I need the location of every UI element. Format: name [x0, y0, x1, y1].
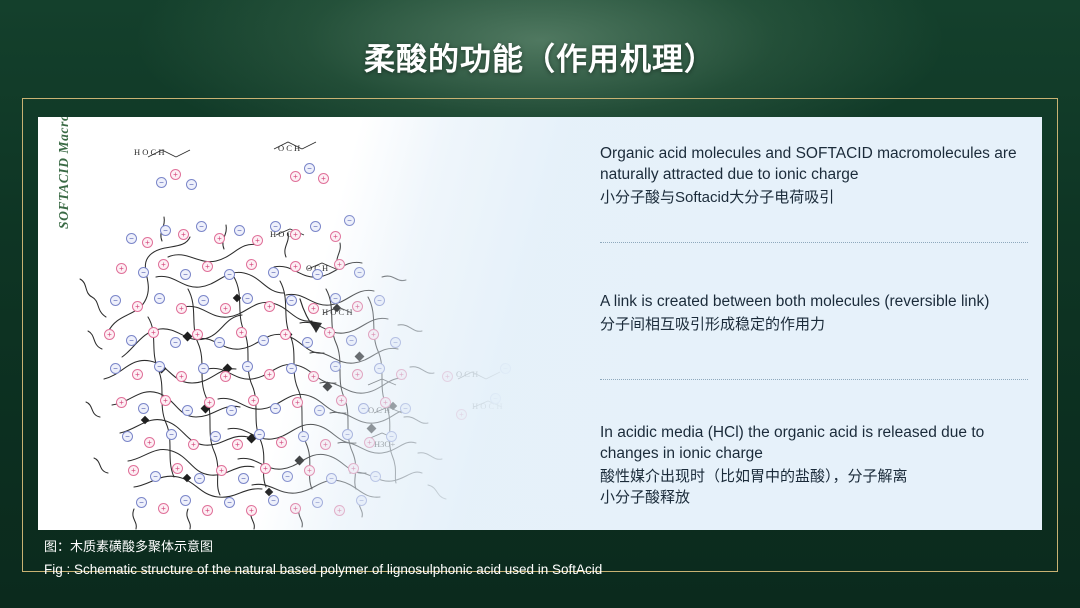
ion-minus-icon: −	[198, 363, 209, 374]
ion-plus-icon: +	[264, 369, 275, 380]
ion-minus-icon: −	[182, 405, 193, 416]
ion-plus-icon: +	[330, 231, 341, 242]
ion-minus-icon: −	[386, 431, 397, 442]
ion-minus-icon: −	[166, 429, 177, 440]
ion-minus-icon: −	[270, 221, 281, 232]
ion-minus-icon: −	[312, 497, 323, 508]
ion-minus-icon: −	[138, 267, 149, 278]
ion-minus-icon: −	[180, 495, 191, 506]
ion-plus-icon: +	[264, 301, 275, 312]
ion-minus-icon: −	[242, 361, 253, 372]
ion-minus-icon: −	[156, 177, 167, 188]
ion-minus-icon: −	[150, 471, 161, 482]
ion-plus-icon: +	[176, 303, 187, 314]
ion-minus-icon: −	[344, 215, 355, 226]
ion-minus-icon: −	[186, 179, 197, 190]
ion-plus-icon: +	[442, 371, 453, 382]
ion-minus-icon: −	[110, 295, 121, 306]
ion-minus-icon: −	[154, 361, 165, 372]
ion-minus-icon: −	[490, 393, 501, 404]
ion-plus-icon: +	[202, 505, 213, 516]
ion-minus-icon: −	[346, 335, 357, 346]
ion-minus-icon: −	[326, 473, 337, 484]
molecule-label: H O C H	[322, 307, 352, 317]
ion-plus-icon: +	[320, 439, 331, 450]
page-title: 柔酸的功能（作用机理）	[0, 34, 1080, 79]
ion-minus-icon: −	[286, 363, 297, 374]
ion-plus-icon: +	[364, 437, 375, 448]
block-english-text: In acidic media (HCl) the organic acid i…	[600, 423, 1030, 465]
ion-minus-icon: −	[268, 267, 279, 278]
ion-minus-icon: −	[136, 497, 147, 508]
ion-minus-icon: −	[234, 225, 245, 236]
ion-plus-icon: +	[204, 397, 215, 408]
ion-minus-icon: −	[154, 293, 165, 304]
ion-plus-icon: +	[368, 329, 379, 340]
ion-plus-icon: +	[348, 463, 359, 474]
ion-plus-icon: +	[178, 229, 189, 240]
ion-plus-icon: +	[260, 463, 271, 474]
ion-plus-icon: +	[246, 259, 257, 270]
ion-minus-icon: −	[126, 233, 137, 244]
ion-minus-icon: −	[226, 405, 237, 416]
ion-minus-icon: −	[160, 225, 171, 236]
ion-minus-icon: −	[298, 431, 309, 442]
text-block-release: In acidic media (HCl) the organic acid i…	[600, 423, 1030, 508]
macromolecule-axis-label: SOFTACID Macromolecule	[56, 117, 72, 229]
ion-minus-icon: −	[400, 403, 411, 414]
ion-plus-icon: +	[128, 465, 139, 476]
ion-plus-icon: +	[144, 437, 155, 448]
ion-plus-icon: +	[132, 301, 143, 312]
ion-plus-icon: +	[324, 327, 335, 338]
ion-plus-icon: +	[148, 327, 159, 338]
molecule-label: O C H	[456, 369, 478, 379]
ion-minus-icon: −	[374, 295, 385, 306]
ion-plus-icon: +	[318, 173, 329, 184]
ion-minus-icon: −	[500, 363, 511, 374]
ion-minus-icon: −	[224, 269, 235, 280]
ion-plus-icon: +	[158, 259, 169, 270]
ion-plus-icon: +	[202, 261, 213, 272]
ion-plus-icon: +	[352, 369, 363, 380]
ion-plus-icon: +	[236, 327, 247, 338]
block-chinese-text: 酸性媒介出现时（比如胃中的盐酸），分子解离 小分子酸释放	[600, 466, 1030, 508]
ion-minus-icon: −	[270, 403, 281, 414]
ion-minus-icon: −	[302, 337, 313, 348]
ion-plus-icon: +	[158, 503, 169, 514]
ion-minus-icon: −	[198, 295, 209, 306]
ion-minus-icon: −	[358, 403, 369, 414]
content-panel: SOFTACID Macromolecule H O C H O C H H O…	[38, 117, 1042, 530]
ion-plus-icon: +	[308, 303, 319, 314]
ion-minus-icon: −	[194, 473, 205, 484]
ion-minus-icon: −	[210, 431, 221, 442]
block-chinese-text: 小分子酸与Softacid大分子电荷吸引	[600, 187, 1030, 208]
ion-plus-icon: +	[290, 503, 301, 514]
ion-plus-icon: +	[220, 371, 231, 382]
ion-minus-icon: −	[258, 335, 269, 346]
ion-minus-icon: −	[342, 429, 353, 440]
slide-root: 柔酸的功能（作用机理）	[0, 0, 1080, 608]
ion-plus-icon: +	[290, 261, 301, 272]
ion-minus-icon: −	[170, 337, 181, 348]
block-english-text: Organic acid molecules and SOFTACID macr…	[600, 144, 1030, 186]
ion-plus-icon: +	[172, 463, 183, 474]
polymer-diagram: SOFTACID Macromolecule H O C H O C H H O…	[38, 117, 558, 530]
ion-minus-icon: −	[282, 471, 293, 482]
ion-minus-icon: −	[356, 495, 367, 506]
ion-plus-icon: +	[246, 505, 257, 516]
ion-minus-icon: −	[122, 431, 133, 442]
ion-plus-icon: +	[352, 301, 363, 312]
ion-plus-icon: +	[170, 169, 181, 180]
ion-minus-icon: −	[330, 293, 341, 304]
ion-plus-icon: +	[192, 329, 203, 340]
block-chinese-text: 分子间相互吸引形成稳定的作用力	[600, 314, 1030, 335]
ion-plus-icon: +	[188, 439, 199, 450]
ion-plus-icon: +	[334, 505, 345, 516]
ion-plus-icon: +	[132, 369, 143, 380]
ion-minus-icon: −	[268, 495, 279, 506]
ion-plus-icon: +	[280, 329, 291, 340]
block-divider	[600, 242, 1028, 243]
ion-plus-icon: +	[160, 395, 171, 406]
ion-plus-icon: +	[308, 371, 319, 382]
caption-chinese: 图：木质素磺酸多聚体示意图	[44, 536, 213, 555]
molecule-label: H O C H	[134, 147, 164, 157]
molecule-label: O C H	[278, 143, 300, 153]
ion-minus-icon: −	[180, 269, 191, 280]
ion-plus-icon: +	[456, 409, 467, 420]
ion-plus-icon: +	[290, 229, 301, 240]
ion-plus-icon: +	[292, 397, 303, 408]
ion-plus-icon: +	[104, 329, 115, 340]
ion-minus-icon: −	[312, 269, 323, 280]
ion-minus-icon: −	[126, 335, 137, 346]
ion-minus-icon: −	[238, 473, 249, 484]
ion-minus-icon: −	[374, 363, 385, 374]
ion-minus-icon: −	[304, 163, 315, 174]
ion-plus-icon: +	[290, 171, 301, 182]
ion-plus-icon: +	[214, 233, 225, 244]
ion-plus-icon: +	[304, 465, 315, 476]
ion-plus-icon: +	[252, 235, 263, 246]
text-block-link: A link is created between both molecules…	[600, 292, 1030, 335]
ion-plus-icon: +	[336, 395, 347, 406]
ion-plus-icon: +	[142, 237, 153, 248]
caption-english: Fig : Schematic structure of the natural…	[44, 562, 602, 577]
ion-plus-icon: +	[232, 439, 243, 450]
ion-minus-icon: −	[224, 497, 235, 508]
ion-minus-icon: −	[330, 361, 341, 372]
ion-minus-icon: −	[196, 221, 207, 232]
ion-minus-icon: −	[110, 363, 121, 374]
ion-plus-icon: +	[380, 397, 391, 408]
ion-minus-icon: −	[138, 403, 149, 414]
ion-plus-icon: +	[176, 371, 187, 382]
ion-minus-icon: −	[390, 337, 401, 348]
ion-plus-icon: +	[116, 263, 127, 274]
block-divider	[600, 379, 1028, 380]
ion-plus-icon: +	[216, 465, 227, 476]
ion-minus-icon: −	[314, 405, 325, 416]
ion-plus-icon: +	[220, 303, 231, 314]
ion-plus-icon: +	[276, 437, 287, 448]
ion-minus-icon: −	[286, 295, 297, 306]
ion-minus-icon: −	[310, 221, 321, 232]
ion-minus-icon: −	[370, 471, 381, 482]
ion-minus-icon: −	[254, 429, 265, 440]
ion-plus-icon: +	[116, 397, 127, 408]
ion-plus-icon: +	[334, 259, 345, 270]
ion-minus-icon: −	[242, 293, 253, 304]
ion-plus-icon: +	[396, 369, 407, 380]
block-english-text: A link is created between both molecules…	[600, 292, 1030, 313]
ion-minus-icon: −	[214, 337, 225, 348]
ion-minus-icon: −	[354, 267, 365, 278]
text-block-attraction: Organic acid molecules and SOFTACID macr…	[600, 144, 1030, 208]
ion-plus-icon: +	[248, 395, 259, 406]
